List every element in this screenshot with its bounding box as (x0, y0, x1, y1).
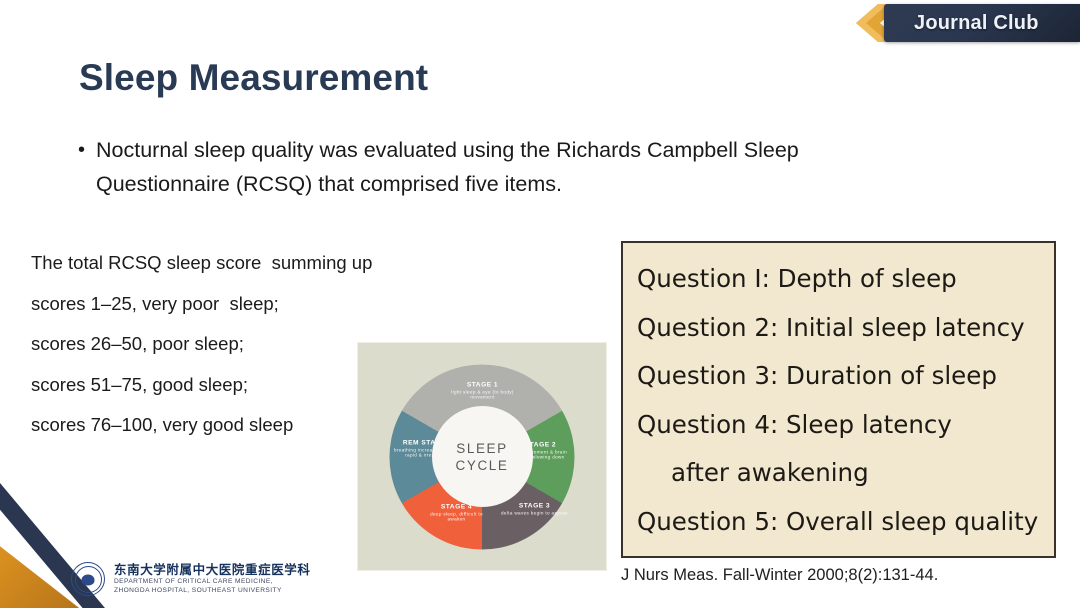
sleep-cycle-donut: STAGE 1 light sleep & eye (to body) move… (390, 364, 575, 549)
question-item: Question I: Depth of sleep (637, 255, 1046, 304)
segment-title: STAGE 3 (500, 503, 570, 509)
hospital-name-english-1: DEPARTMENT OF CRITICAL CARE MEDICINE, (114, 578, 311, 587)
hospital-name-english-2: ZHONGDA HOSPITAL, SOUTHEAST UNIVERSITY (114, 587, 311, 596)
citation-text: J Nurs Meas. Fall-Winter 2000;8(2):131-4… (621, 566, 938, 585)
segment-subtitle: delta waves begin to appear (500, 510, 570, 516)
bullet-marker-icon: • (78, 133, 96, 167)
banner-label: Journal Club (914, 4, 1039, 42)
questions-list: Question I: Depth of sleep Question 2: I… (637, 255, 1046, 546)
slide-canvas: Journal Club Sleep Measurement • Nocturn… (0, 0, 1080, 608)
question-item: Question 5: Overall sleep quality (637, 498, 1046, 547)
question-item: Question 3: Duration of sleep (637, 352, 1046, 401)
center-line-2: CYCLE (455, 457, 508, 474)
bullet-line-2: Questionnaire (RCSQ) that comprised five… (96, 167, 799, 201)
page-title: Sleep Measurement (79, 57, 428, 99)
hospital-seal-icon (71, 562, 105, 596)
segment-subtitle: deep sleep, difficult to awaken (422, 511, 492, 522)
hospital-logo-footer: 东南大学附属中大医院重症医学科 DEPARTMENT OF CRITICAL C… (71, 562, 311, 596)
hospital-name-chinese: 东南大学附属中大医院重症医学科 (114, 563, 311, 578)
questions-box: Question I: Depth of sleep Question 2: I… (621, 241, 1056, 558)
score-line: scores 1–25, very poor sleep; (31, 284, 451, 325)
score-line: The total RCSQ sleep score summing up (31, 243, 451, 284)
bullet-paragraph: • Nocturnal sleep quality was evaluated … (78, 133, 928, 201)
donut-segment-stage-3: STAGE 3 delta waves begin to appear (500, 503, 570, 516)
donut-center-label: SLEEP CYCLE (432, 406, 533, 507)
donut-segment-stage-1: STAGE 1 light sleep & eye (to body) move… (446, 382, 520, 401)
segment-title: STAGE 1 (446, 382, 520, 388)
question-item: Question 4: Sleep latency (637, 401, 1046, 450)
question-item-continuation: after awakening (637, 449, 1046, 498)
segment-subtitle: light sleep & eye (to body) movement (446, 389, 520, 400)
center-line-1: SLEEP (456, 440, 508, 457)
journal-club-banner: Journal Club (856, 4, 1080, 42)
sleep-cycle-diagram: STAGE 1 light sleep & eye (to body) move… (357, 342, 607, 571)
hospital-logo-text: 东南大学附属中大医院重症医学科 DEPARTMENT OF CRITICAL C… (114, 563, 311, 595)
question-item: Question 2: Initial sleep latency (637, 304, 1046, 353)
bullet-line-1: Nocturnal sleep quality was evaluated us… (96, 133, 799, 167)
